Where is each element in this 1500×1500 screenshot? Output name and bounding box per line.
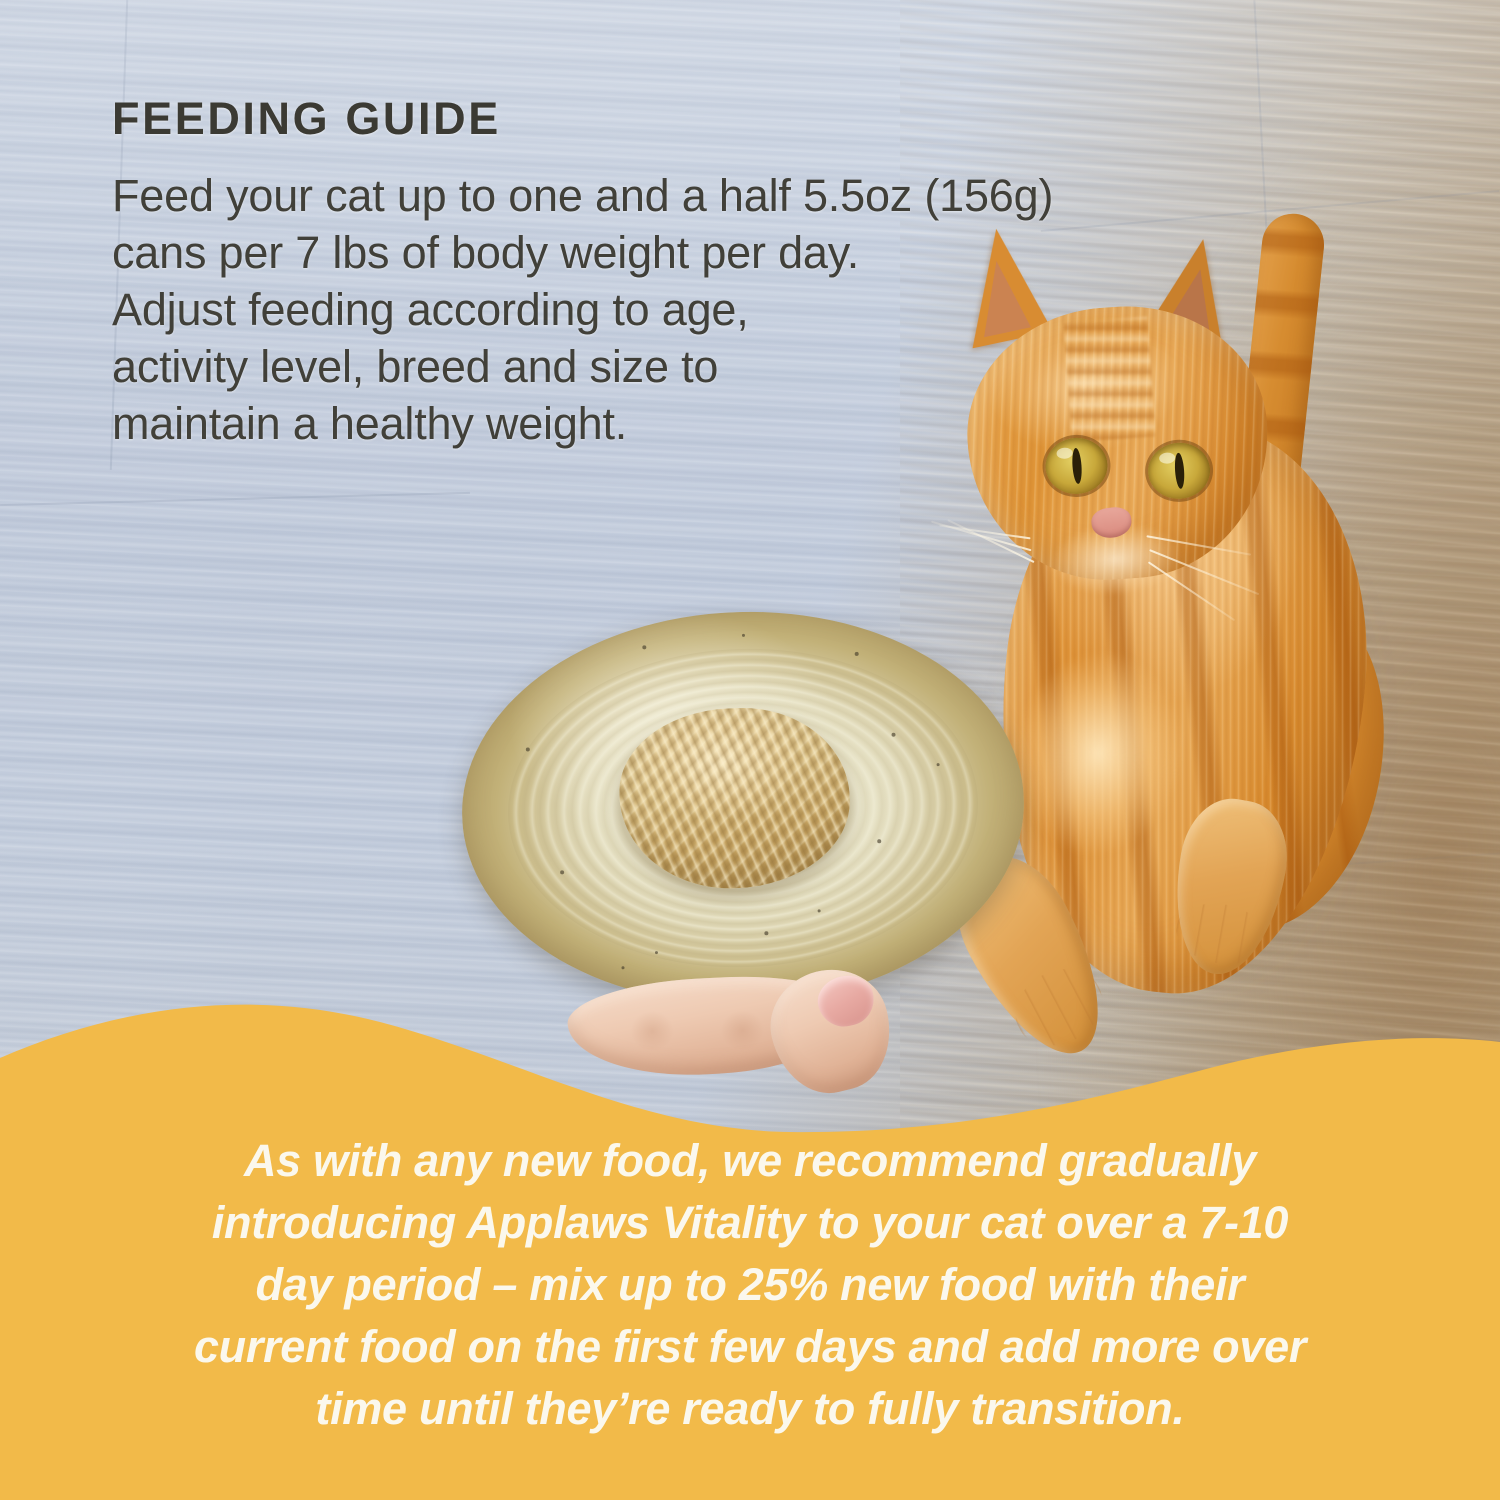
- plate-speck: [855, 652, 859, 656]
- food-shred-texture: [617, 704, 853, 892]
- transition-advice-banner: As with any new food, we recommend gradu…: [0, 980, 1500, 1500]
- plate-speck: [937, 763, 940, 766]
- plate-speck: [655, 951, 658, 954]
- plate-speck: [642, 645, 646, 649]
- body-line: Feed your cat up to one and a half 5.5oz…: [112, 167, 1322, 224]
- feeding-guide-infographic: FEEDING GUIDE Feed your cat up to one an…: [0, 0, 1500, 1500]
- banner-line: day period – mix up to 25% new food with…: [84, 1254, 1416, 1316]
- plate-speck: [818, 909, 821, 912]
- plate-speck: [742, 634, 745, 637]
- plate-speck: [526, 747, 530, 751]
- feeding-guide-text: FEEDING GUIDE Feed your cat up to one an…: [112, 96, 1322, 452]
- page-title: FEEDING GUIDE: [112, 96, 1322, 141]
- shredded-chicken-food: [617, 704, 853, 892]
- banner-copy: As with any new food, we recommend gradu…: [0, 1130, 1500, 1440]
- body-line: maintain a healthy weight.: [112, 395, 1322, 452]
- body-line: Adjust feeding according to age,: [112, 281, 1322, 338]
- feeding-instructions: Feed your cat up to one and a half 5.5oz…: [112, 167, 1322, 452]
- banner-line: current food on the first few days and a…: [84, 1316, 1416, 1378]
- eye-highlight: [1159, 452, 1176, 464]
- banner-line: introducing Applaws Vitality to your cat…: [84, 1192, 1416, 1254]
- banner-line: time until they’re ready to fully transi…: [84, 1378, 1416, 1440]
- banner-line: As with any new food, we recommend gradu…: [84, 1130, 1416, 1192]
- body-line: activity level, breed and size to: [112, 338, 1322, 395]
- body-line: cans per 7 lbs of body weight per day.: [112, 224, 1322, 281]
